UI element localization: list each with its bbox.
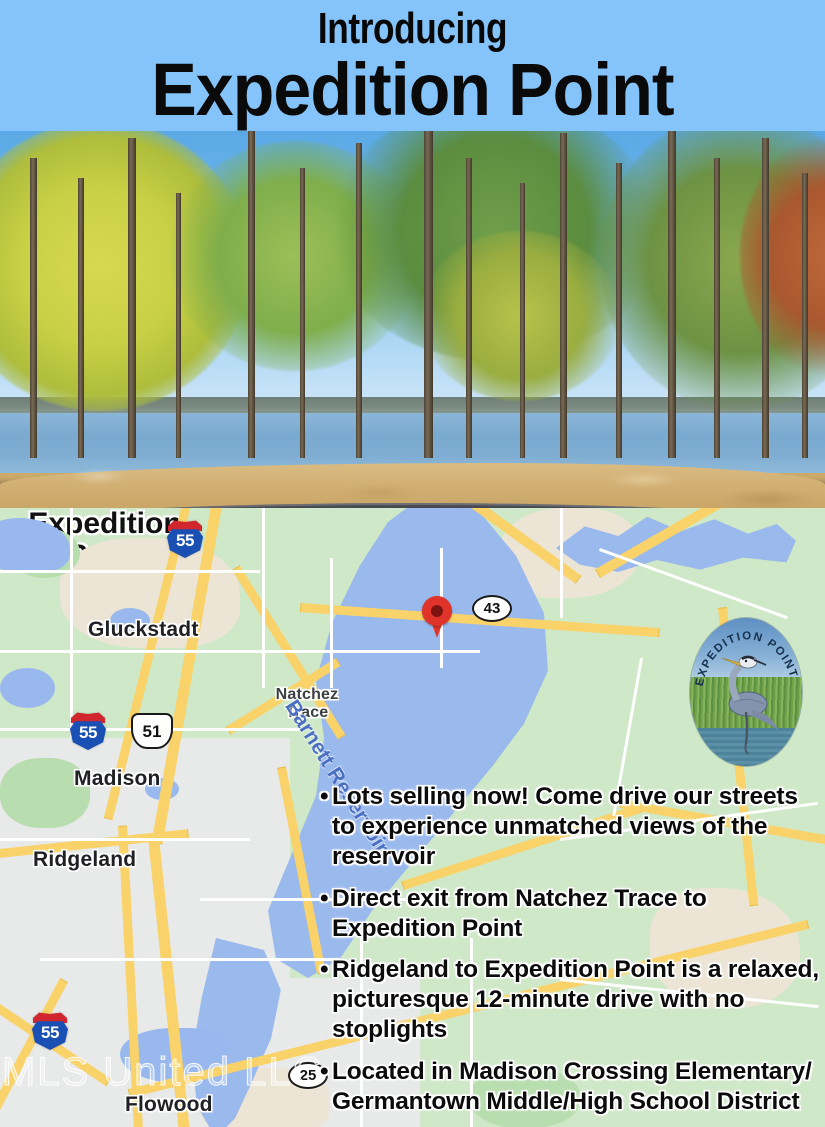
map-street xyxy=(330,558,333,688)
county-shield-number: 43 xyxy=(474,600,510,617)
photo-tree-trunk xyxy=(668,131,676,458)
feature-bullet-list: Lots selling now! Come drive our streets… xyxy=(320,782,825,1127)
logo-arc-text: EXPEDITION POINT xyxy=(690,618,802,766)
expedition-point-logo: EXPEDITION POINT xyxy=(690,618,802,766)
photo-tree-trunk xyxy=(356,143,362,458)
list-item: Lots selling now! Come drive our streets… xyxy=(320,782,825,872)
photo-tree-trunk xyxy=(714,158,720,458)
list-item: Located in Madison Crossing Elementary/ … xyxy=(320,1057,825,1117)
map-shield-interstate-55[interactable]: 55 xyxy=(68,712,108,750)
map-street xyxy=(560,508,563,618)
photo-tree-trunk xyxy=(176,193,181,458)
photo-tree-trunk xyxy=(248,131,255,458)
svg-text:EXPEDITION POINT: EXPEDITION POINT xyxy=(694,630,800,687)
map-shield-us-51[interactable]: 51 xyxy=(131,713,173,749)
flyer-header: Introducing Expedition Point xyxy=(0,0,825,131)
map-pin-icon[interactable] xyxy=(422,596,452,638)
map-shield-interstate-55[interactable]: 55 xyxy=(30,1012,70,1050)
photo-tree-trunk xyxy=(424,131,433,458)
map-street xyxy=(0,838,250,841)
map-pin-dot xyxy=(431,605,443,617)
photo-tree-trunk xyxy=(466,158,472,458)
photo-tree-trunk xyxy=(128,138,136,458)
logo-arc-text-content: EXPEDITION POINT xyxy=(694,630,800,687)
interstate-shield-number: 55 xyxy=(68,723,108,743)
photo-tree-trunk xyxy=(616,163,622,458)
hero-photo xyxy=(0,131,825,508)
photo-tree-trunk xyxy=(560,133,567,458)
photo-tree-trunk xyxy=(802,173,808,458)
map-street xyxy=(40,958,340,961)
map-city-flowood: Flowood xyxy=(125,1093,213,1117)
photo-tree-trunk xyxy=(300,168,305,458)
location-map[interactable]: Expedition Point Gluckstadt Madison Ridg… xyxy=(0,508,825,1127)
map-street xyxy=(262,508,265,688)
photo-tree-trunk xyxy=(78,178,84,458)
header-kicker: Introducing xyxy=(83,7,743,51)
us-shield-number: 51 xyxy=(133,722,171,742)
list-item: Ridgeland to Expedition Point is a relax… xyxy=(320,955,825,1045)
mls-watermark: MLS United LLC xyxy=(2,1050,323,1095)
photo-tree-trunk xyxy=(762,138,769,458)
map-street xyxy=(70,508,73,738)
list-item: Direct exit from Natchez Trace to Expedi… xyxy=(320,884,825,944)
map-city-madison: Madison xyxy=(74,767,161,791)
map-shield-county-43[interactable]: 43 xyxy=(472,595,512,622)
map-shield-interstate-55[interactable]: 55 xyxy=(165,520,205,558)
interstate-shield-number: 55 xyxy=(165,531,205,551)
listing-flyer: Introducing Expedition Point xyxy=(0,0,825,1127)
map-water-small xyxy=(0,668,55,708)
map-city-ridgeland: Ridgeland xyxy=(33,848,136,872)
page-title: Expedition Point xyxy=(33,52,792,127)
photo-tree-trunk xyxy=(520,183,525,458)
photo-tree-trunk xyxy=(30,158,37,458)
interstate-shield-number: 55 xyxy=(30,1023,70,1043)
map-city-gluckstadt: Gluckstadt xyxy=(88,618,199,642)
map-street xyxy=(0,570,260,573)
natchez-trace-line1: Natchez xyxy=(262,686,352,704)
photo-graded-dirt xyxy=(0,463,825,508)
